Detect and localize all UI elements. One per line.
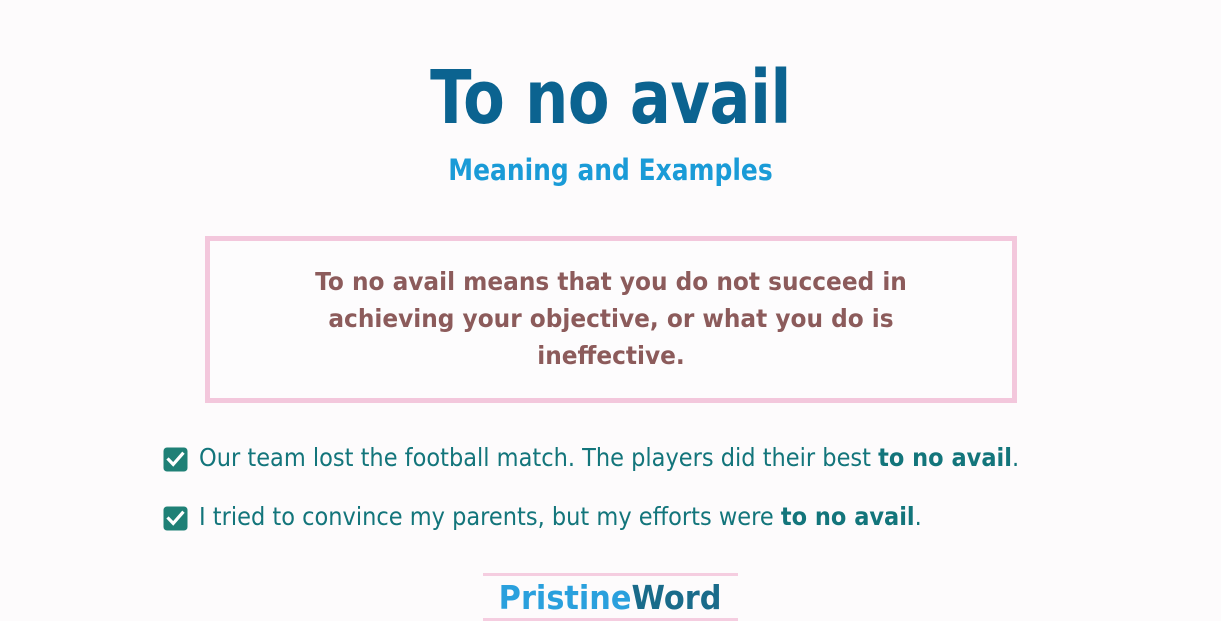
- page-root: To no avail Meaning and Examples To no a…: [0, 0, 1221, 611]
- example-sentence-1-prefix: Our team lost the football match. The pl…: [199, 443, 878, 472]
- check-mark-button-icon: [163, 506, 188, 531]
- example-sentence-1: Our team lost the football match. The pl…: [199, 441, 1019, 474]
- definition-text: To no avail means that you do not succee…: [262, 263, 960, 374]
- definition-box: To no avail means that you do not succee…: [205, 236, 1017, 403]
- example-sentence-1-suffix: .: [1012, 443, 1019, 472]
- example-sentence-2-prefix: I tried to convince my parents, but my e…: [199, 502, 781, 531]
- example-sentence-1-highlight: to no avail: [878, 443, 1012, 472]
- check-mark-button-icon: [163, 447, 188, 472]
- site-logo-text: PristineWord: [494, 579, 728, 617]
- example-sentence-2-highlight: to no avail: [781, 502, 915, 531]
- site-logo-section: PristineWord: [0, 573, 1221, 621]
- example-sentence-2-suffix: .: [915, 502, 922, 531]
- site-logo[interactable]: PristineWord: [483, 573, 737, 621]
- page-title: To no avail: [110, 58, 1111, 138]
- example-sentence-2: I tried to convince my parents, but my e…: [199, 500, 922, 533]
- examples-list: Our team lost the football match. The pl…: [0, 441, 1221, 533]
- example-item-1: Our team lost the football match. The pl…: [0, 441, 1221, 474]
- example-item-2: I tried to convince my parents, but my e…: [0, 500, 1221, 533]
- page-subtitle: Meaning and Examples: [85, 152, 1135, 188]
- site-logo-part-one: Pristine: [499, 578, 632, 617]
- page-header: To no avail Meaning and Examples: [0, 0, 1221, 188]
- definition-section: To no avail means that you do not succee…: [0, 236, 1221, 403]
- site-logo-part-two: Word: [632, 578, 722, 617]
